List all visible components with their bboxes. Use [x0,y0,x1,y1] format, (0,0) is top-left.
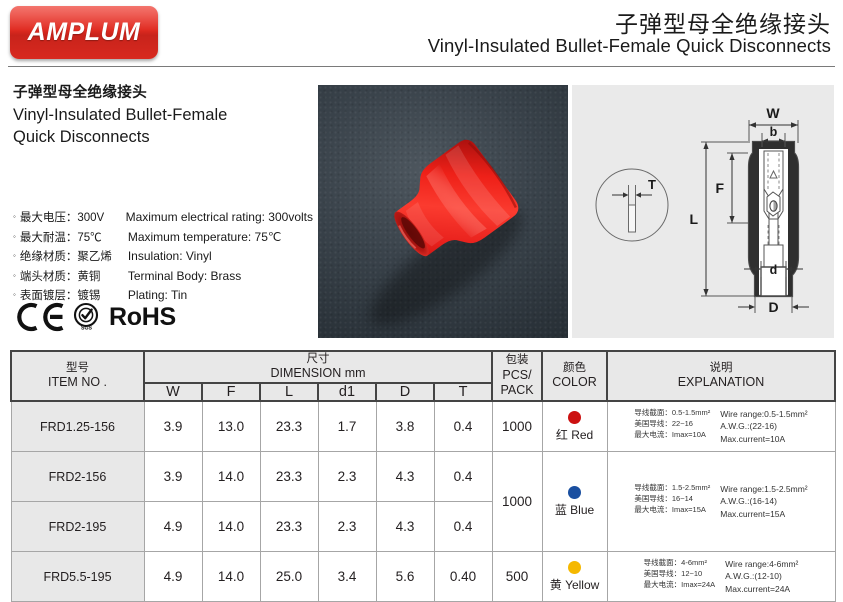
explanation-chinese: 导线截面：1.5-2.5mm² 美国导线：16~14 最大电流：Imax=15A [634,483,710,519]
bullet-icon: ◦ [13,212,16,221]
cell-l: 23.3 [260,401,318,452]
cell-d: 5.6 [376,552,434,602]
spec-heading-english-line2: Quick Disconnects [13,127,313,149]
spec-item-chinese: 端头材质：黄铜 [20,268,128,284]
table-row: FRD5.5-195 4.9 14.0 25.0 3.4 5.6 0.40 50… [11,552,835,602]
cell-t: 0.4 [434,401,492,452]
header-pack-en-line2: PACK [493,383,541,399]
brand-logo-text: AMPLUM [10,6,158,59]
rohs-mark-label: RoHS [109,305,176,330]
table-body: FRD1.25-156 3.9 13.0 23.3 1.7 3.8 0.4 10… [11,401,835,602]
dim-label-d-big: D [768,299,778,315]
cell-f: 13.0 [202,401,260,452]
cell-explanation: 导线截面：4-6mm² 美国导线：12~10 最大电流：Imax=24A Wir… [607,552,835,602]
cell-l: 23.3 [260,452,318,502]
header-dim-l: L [260,383,318,401]
bullet-icon: ◦ [13,271,16,280]
spec-item-chinese: 表面镀层：镀锡 [20,287,128,303]
spec-item-english: Plating: Tin [128,288,187,302]
brand-logo: AMPLUM [10,6,158,59]
cell-pack: 500 [492,552,542,602]
spec-item: ◦ 端头材质：黄铜 Terminal Body: Brass [13,268,313,284]
cell-w: 3.9 [144,401,202,452]
spec-item: ◦ 绝缘材质：聚乙烯 Insulation: Vinyl [13,248,313,264]
table-header: 型号 ITEM NO . 尺寸 DIMENSION mm 包装 PCS/ PAC… [11,351,835,401]
bullet-icon: ◦ [13,251,16,260]
cell-d1: 2.3 [318,452,376,502]
dim-label-f: F [715,180,724,196]
header-dimension-zh: 尺寸 [145,352,491,366]
color-label: 黄 Yellow [543,576,607,593]
svg-text:SGS: SGS [81,325,92,331]
explanation-english: Wire range:4-6mm² A.W.G.:(12-10) Max.cur… [725,558,798,594]
header-pack-en-line1: PCS/ [493,368,541,384]
dim-label-b: b [770,125,778,139]
cell-d: 4.3 [376,452,434,502]
header-color-zh: 颜色 [543,361,606,375]
header-dim-f: F [202,383,260,401]
product-connector-image [318,85,568,338]
header-pack-zh: 包装 [493,353,541,367]
header-color: 颜色 COLOR [542,351,607,401]
dim-label-l: L [689,211,698,227]
cell-explanation: 导线截面：1.5-2.5mm² 美国导线：16~14 最大电流：Imax=15A… [607,452,835,552]
color-swatch-yellow [568,561,581,574]
spec-item: ◦ 最大耐温：75℃ Maximum temperature: 75℃ [13,229,313,245]
cell-t: 0.40 [434,552,492,602]
cell-item-no: FRD2-156 [11,452,144,502]
spec-item-chinese: 绝缘材质：聚乙烯 [20,248,128,264]
cell-item-no: FRD2-195 [11,502,144,552]
color-label: 蓝 Blue [543,501,607,518]
table-row: FRD2-156 3.9 14.0 23.3 2.3 4.3 0.4 1000 … [11,452,835,502]
specification-table-container: 型号 ITEM NO . 尺寸 DIMENSION mm 包装 PCS/ PAC… [10,350,834,602]
cell-pack: 1000 [492,401,542,452]
color-label: 红 Red [543,426,607,443]
explanation-english: Wire range:1.5-2.5mm² A.W.G.:(16-14) Max… [720,483,807,519]
spec-item-english: Maximum temperature: 75℃ [128,230,282,244]
sgs-mark-icon: SGS [72,302,102,332]
page-title-english: Vinyl-Insulated Bullet-Female Quick Disc… [428,35,831,57]
header-divider [8,66,835,67]
spec-heading-chinese: 子弹型母全绝缘接头 [13,84,313,104]
cell-d: 3.8 [376,401,434,452]
spec-item-chinese: 最大电压：300V [20,209,126,225]
explanation-chinese: 导线截面：0.5-1.5mm² 美国导线：22~16 最大电流：Imax=10A [634,408,710,444]
technical-drawing: T [572,85,834,338]
header-color-en: COLOR [543,375,606,391]
spec-item: ◦ 表面镀层：镀锡 Plating: Tin [13,287,313,303]
cell-w: 4.9 [144,502,202,552]
page-header: AMPLUM 子弹型母全绝缘接头 Vinyl-Insulated Bullet-… [0,0,843,68]
header-pack: 包装 PCS/ PACK [492,351,542,401]
header-dimension-en: DIMENSION mm [145,366,491,382]
spec-item-english: Terminal Body: Brass [128,269,241,283]
dim-label-t: T [648,177,656,192]
spec-item-chinese: 最大耐温：75℃ [20,229,128,245]
specification-panel: 子弹型母全绝缘接头 Vinyl-Insulated Bullet-Female … [13,84,313,340]
header-item-no-en: ITEM NO . [12,375,143,391]
cell-l: 25.0 [260,552,318,602]
header-dim-d: D [376,383,434,401]
cell-t: 0.4 [434,452,492,502]
cell-color: 蓝 Blue [542,452,607,552]
spec-item-english: Insulation: Vinyl [128,249,212,263]
cell-f: 14.0 [202,552,260,602]
cell-item-no: FRD1.25-156 [11,401,144,452]
explanation-chinese: 导线截面：4-6mm² 美国导线：12~10 最大电流：Imax=24A [644,558,715,594]
color-swatch-red [568,411,581,424]
header-dim-d1: d1 [318,383,376,401]
bullet-icon: ◦ [13,232,16,241]
spec-item: ◦ 最大电压：300V Maximum electrical rating: 3… [13,209,313,225]
header-dimension: 尺寸 DIMENSION mm [144,351,492,383]
cell-l: 23.3 [260,502,318,552]
header-explanation-en: EXPLANATION [608,375,834,391]
cell-f: 14.0 [202,502,260,552]
page-title-chinese: 子弹型母全绝缘接头 [615,5,831,39]
cell-explanation: 导线截面：0.5-1.5mm² 美国导线：22~16 最大电流：Imax=10A… [607,401,835,452]
bullet-icon: ◦ [13,290,16,299]
cell-w: 4.9 [144,552,202,602]
cell-d1: 3.4 [318,552,376,602]
ce-mark-icon [17,302,65,332]
header-item-no-zh: 型号 [12,361,143,375]
cell-d: 4.3 [376,502,434,552]
color-swatch-blue [568,486,581,499]
cell-color: 红 Red [542,401,607,452]
explanation-english: Wire range:0.5-1.5mm² A.W.G.:(22-16) Max… [720,408,807,444]
cell-d1: 2.3 [318,502,376,552]
certification-marks: SGS RoHS [17,302,176,332]
product-photo [318,85,568,338]
header-explanation-zh: 说明 [608,361,834,375]
header-explanation: 说明 EXPLANATION [607,351,835,401]
cell-f: 14.0 [202,452,260,502]
header-dim-t: T [434,383,492,401]
table-row: FRD1.25-156 3.9 13.0 23.3 1.7 3.8 0.4 10… [11,401,835,452]
spec-item-english: Maximum electrical rating: 300volts [126,210,313,224]
spec-heading-english-line1: Vinyl-Insulated Bullet-Female [13,105,313,127]
dimension-diagram: T [572,85,834,338]
dim-label-w: W [766,105,780,121]
cell-w: 3.9 [144,452,202,502]
header-item-no: 型号 ITEM NO . [11,351,144,401]
cell-d1: 1.7 [318,401,376,452]
cell-color: 黄 Yellow [542,552,607,602]
specification-list: ◦ 最大电压：300V Maximum electrical rating: 3… [13,209,313,307]
dim-label-d-small: d [770,263,778,277]
cell-t: 0.4 [434,502,492,552]
cell-pack: 1000 [492,452,542,552]
specification-table: 型号 ITEM NO . 尺寸 DIMENSION mm 包装 PCS/ PAC… [10,350,836,602]
header-dim-w: W [144,383,202,401]
cell-item-no: FRD5.5-195 [11,552,144,602]
